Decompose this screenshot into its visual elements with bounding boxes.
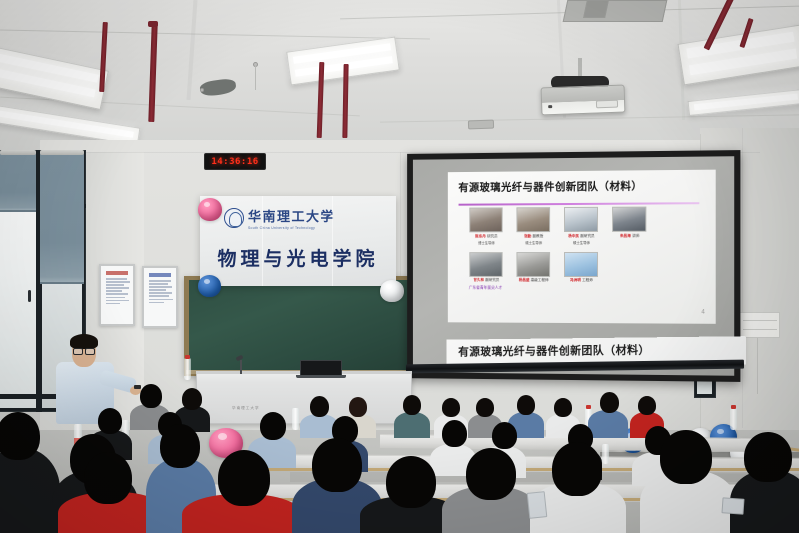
lecture-hall-photo: 14:36:16 华南理工大学 South China University o… — [0, 0, 799, 533]
university-logo-row: 华南理工大学 South China University of Technol… — [224, 206, 335, 230]
audience-head — [442, 420, 467, 447]
window-blind — [0, 152, 36, 212]
member-portrait — [470, 252, 503, 277]
water-bottle — [602, 444, 609, 464]
team-member: 杨中民 副研究员 硕士生导师 — [563, 207, 599, 245]
audience-head — [660, 430, 712, 484]
team-photo-grid: 陈东丹 研究员 博士生导师 张勤 副教授 硕士生导师 杨中民 副研究员 硕士生导… — [469, 207, 702, 295]
chalkboard — [189, 280, 409, 370]
water-bottle — [184, 358, 191, 380]
sprinkler-drop — [255, 66, 256, 90]
audience-head — [140, 384, 162, 408]
window-blind-roller — [0, 150, 36, 155]
slide-page-number: 4 — [701, 310, 704, 316]
team-member: 朱昌海 讲师 — [612, 207, 648, 245]
projector-lens — [596, 100, 618, 109]
audience-head — [312, 438, 362, 492]
speaker-hair — [70, 334, 98, 349]
audience-head — [638, 396, 656, 415]
presentation-slide: 有源玻璃光纤与器件创新团队（材料） 陈东丹 研究员 博士生导师 张勤 副教授 硕… — [448, 170, 716, 324]
audience-head — [386, 456, 436, 508]
digital-wall-clock: 14:36:16 — [204, 153, 266, 170]
laptop-screen[interactable] — [300, 360, 342, 376]
member-name-line: 甘久林 副研究员 — [469, 278, 504, 283]
audience-head — [84, 452, 132, 504]
audience-head — [466, 448, 516, 500]
audience-head — [600, 392, 619, 413]
window-handle[interactable] — [28, 290, 31, 302]
slide-title-underline — [458, 202, 699, 205]
ceiling-air-vent — [563, 0, 668, 22]
member-portrait — [517, 208, 551, 233]
water-bottle — [730, 408, 737, 430]
ceiling-air-vent — [583, 0, 609, 18]
team-row: 甘久林 副研究员 广东省青年拔尖人才 杨昌盛 高级工程师 冯洲明 工程师 — [469, 252, 702, 292]
notice-board — [99, 264, 135, 326]
wall-control-panel[interactable] — [738, 312, 780, 338]
sprinkler-pipe-cap — [148, 21, 158, 27]
laptop-base — [296, 375, 346, 378]
clock-time: 14:36:16 — [211, 157, 258, 167]
microphone-stand — [240, 360, 242, 374]
team-member: 杨昌盛 高级工程师 — [516, 252, 552, 291]
member-portrait — [517, 252, 551, 277]
member-name-line: 张勤 副教授 — [516, 234, 552, 239]
audience-head — [182, 388, 202, 410]
audience-head — [517, 395, 535, 415]
team-member: 冯洲明 工程师 — [563, 252, 599, 292]
member-subtitle: 博士生导师 — [469, 240, 504, 245]
lower-slide-title: 有源玻璃光纤与器件创新团队（材料） — [458, 341, 650, 359]
event-banner: 华南理工大学 South China University of Technol… — [200, 196, 396, 286]
balloon — [198, 198, 222, 221]
ceiling-speaker — [468, 120, 494, 130]
wall-seam — [742, 128, 743, 428]
window-blind — [40, 152, 84, 284]
audience-head — [552, 442, 602, 496]
member-portrait — [470, 208, 503, 233]
audience-head — [554, 398, 572, 417]
audience-head — [349, 397, 367, 417]
audience-head — [492, 422, 517, 449]
eyeglasses-icon — [73, 348, 83, 355]
member-name-line: 陈东丹 研究员 — [469, 234, 504, 239]
panel-cable — [757, 338, 758, 394]
audience-head — [442, 398, 460, 417]
audience-head — [218, 450, 270, 506]
audience-head — [310, 396, 329, 417]
banner-department-name: 物理与光电学院 — [200, 244, 396, 271]
presentation-clicker[interactable] — [134, 385, 141, 389]
team-row: 陈东丹 研究员 博士生导师 张勤 副教授 硕士生导师 杨中民 副研究员 硕士生导… — [469, 207, 702, 245]
audience-head — [744, 432, 792, 482]
audience-head — [260, 412, 286, 440]
member-subtitle: 硕士生导师 — [563, 240, 599, 245]
team-member: 张勤 副教授 硕士生导师 — [516, 208, 552, 246]
audience-head — [476, 398, 494, 417]
sprinkler-head — [200, 88, 204, 92]
member-subtitle: 硕士生导师 — [516, 240, 552, 245]
audience-member — [394, 412, 430, 438]
audience-head — [160, 424, 200, 468]
bottle-cap — [731, 405, 736, 409]
slide-title: 有源玻璃光纤与器件创新团队（材料） — [458, 178, 642, 194]
audience-head — [0, 412, 40, 460]
university-logo-icon — [224, 208, 244, 228]
balloon — [198, 275, 221, 297]
audience-head — [98, 408, 122, 434]
member-name-line: 朱昌海 讲师 — [612, 234, 648, 239]
eyeglasses-icon — [85, 348, 95, 355]
team-member: 陈东丹 研究员 博士生导师 — [469, 208, 504, 245]
audience-head — [403, 395, 421, 415]
member-name-line: 杨昌盛 高级工程师 — [516, 278, 552, 283]
lectern — [196, 372, 412, 424]
lectern-label: 华南理工大学 — [232, 406, 260, 411]
water-bottle — [292, 408, 299, 430]
audience-member — [588, 410, 628, 438]
notice-board — [142, 266, 178, 328]
team-member: 甘久林 副研究员 广东省青年拔尖人才 — [469, 252, 504, 291]
window-blind-roller — [40, 150, 84, 155]
member-portrait — [564, 252, 598, 277]
member-name-line: 冯洲明 工程师 — [563, 278, 599, 283]
member-name-line: 杨中民 副研究员 — [563, 234, 599, 239]
balloon — [380, 280, 404, 302]
member-portrait — [564, 207, 598, 232]
bottle-cap — [586, 405, 591, 409]
laptop-in-audience[interactable] — [721, 497, 744, 514]
member-portrait — [613, 207, 647, 232]
mobile-phone[interactable] — [527, 491, 548, 519]
bottle-cap — [185, 355, 190, 359]
